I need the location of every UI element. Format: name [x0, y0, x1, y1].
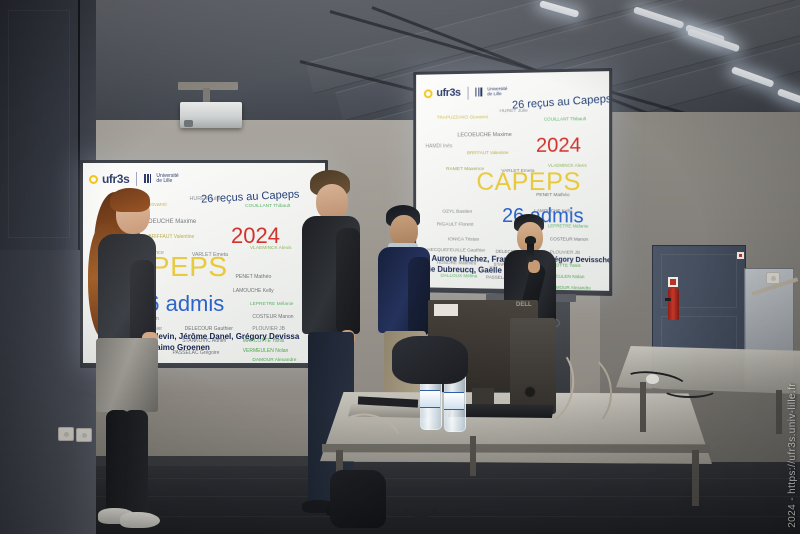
mouse[interactable] [646, 374, 659, 384]
monitor-sticker [434, 304, 458, 316]
word-cloud-name: HURET Julie [189, 197, 220, 202]
arm [336, 228, 360, 334]
microphone-head-icon [525, 236, 536, 244]
table-leg [470, 436, 476, 476]
leg-right [124, 410, 148, 516]
word-cloud-name: COUILLANT Thibault [544, 118, 586, 123]
hair-fringe [110, 188, 150, 212]
word-cloud-name: RIGAULT Florent [437, 224, 474, 229]
bottle-label [444, 392, 464, 410]
word-cloud-name: COSTEUR Manon [252, 315, 293, 320]
credits-line-2: rie Dubreucq, Gaëlle [426, 265, 502, 275]
person-woman-left [86, 186, 178, 534]
fire-extinguisher-sign [668, 277, 678, 287]
word-cloud-name: LEPRETRE Mélanie [250, 303, 293, 308]
word-cloud-name: LAMOUCHE Kelly [233, 289, 274, 294]
table-leg [692, 450, 699, 506]
arm [408, 257, 430, 335]
skirt [96, 338, 158, 412]
bottle-label [420, 390, 440, 408]
word-cloud-name: TRAPUZZANO Giovanni [437, 116, 488, 121]
word-cloud-name: PENET Mathéo [235, 275, 271, 280]
word-cloud-name: HURET Julie [499, 110, 527, 115]
head [316, 184, 348, 220]
watermark-url: 2024 - https://ufr3s.univ-lille.fr [787, 383, 798, 528]
bag-on-floor [392, 336, 468, 384]
power-socket [58, 427, 74, 441]
wall-cabinet [0, 0, 80, 250]
projector-lens [184, 120, 193, 127]
wall-switch [766, 272, 780, 284]
alarm-sign [737, 252, 744, 259]
word-cloud-name: LECOEUCHE Maxime [457, 133, 511, 139]
word-2024: 2024 [536, 134, 581, 157]
word-cloud-name: COUILLANT Thibault [245, 205, 290, 210]
word-capeps: CAPEPS [476, 168, 581, 197]
word-2024: 2024 [231, 223, 280, 249]
word-cloud-name: IONICA Tristan [448, 239, 479, 244]
word-cloud-name: DAMOUR Alexandre [252, 359, 296, 363]
shoe-right [120, 512, 160, 528]
word-cloud-name: BRIFFAUT Valentine [467, 151, 509, 156]
word-cloud-name: DALLOUX Mélina [440, 275, 477, 280]
conference-room-photo: ufr3s Université de Lille 26 reçus au Ca… [0, 0, 800, 534]
side-table-leg [776, 390, 782, 434]
dell-logo: DELL [516, 302, 532, 308]
ceiling-strip-light [777, 88, 800, 105]
word-cloud-name: HAMDI Inès [425, 145, 452, 150]
word-cloud-name: OZYL Bastien [442, 211, 472, 216]
fire-extinguisher [668, 288, 679, 320]
cable [662, 380, 718, 398]
word-cloud-name: VERMEULEN Nolan [243, 349, 289, 354]
extinguisher-hose [665, 298, 671, 301]
cable [396, 444, 446, 518]
backpack [330, 470, 386, 528]
